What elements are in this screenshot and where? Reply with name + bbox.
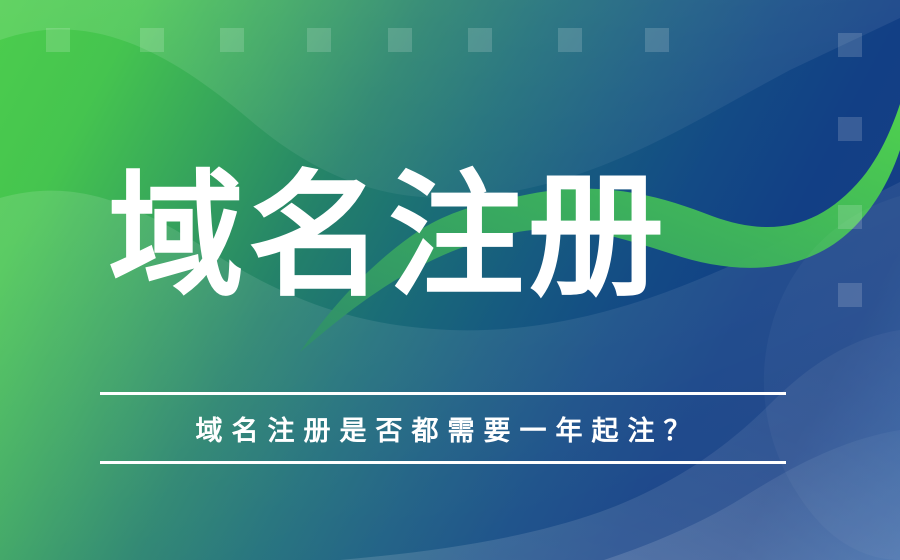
banner-subtitle: 域名注册是否都需要一年起注？ [100, 395, 786, 461]
divider-bottom [100, 461, 786, 464]
subtitle-block: 域名注册是否都需要一年起注？ [100, 392, 786, 464]
promo-banner: 域名注册 域名注册是否都需要一年起注？ [0, 0, 900, 560]
page-title: 域名注册 [108, 168, 668, 307]
banner-content: 域名注册 域名注册是否都需要一年起注？ [100, 0, 800, 560]
